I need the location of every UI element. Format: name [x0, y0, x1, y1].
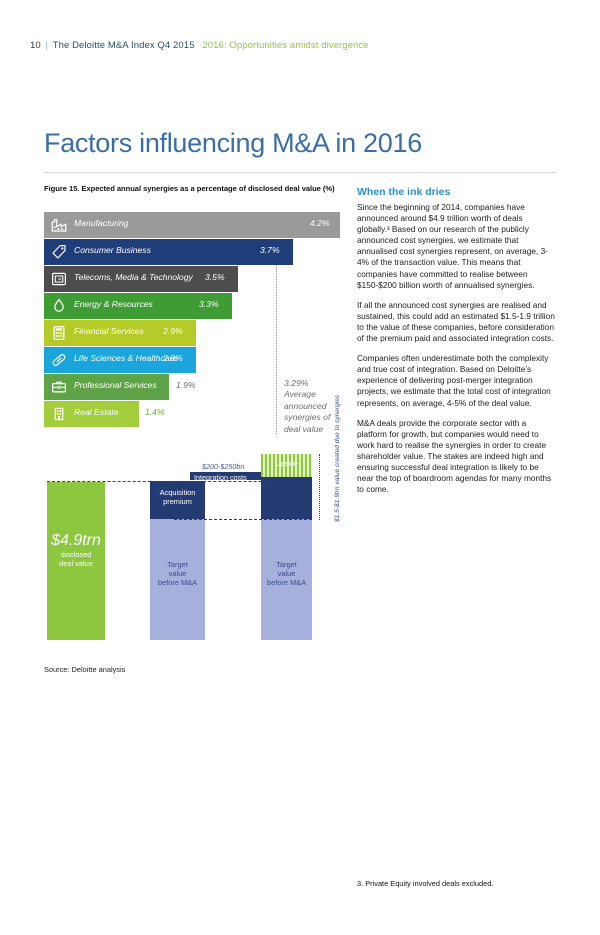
article-body: When the ink dries Since the beginning o… [357, 186, 556, 504]
figure-caption: Figure 15. Expected annual synergies as … [44, 184, 335, 193]
disclosed-deal-value-label: $4.9trn disclosed deal value [47, 532, 105, 568]
bar-label-real-estate: Real Estate [74, 407, 118, 417]
bar-label-financial-services: Financial Services [74, 326, 144, 336]
page-root: 10 | The Deloitte M&A Index Q4 2015 2016… [0, 0, 600, 935]
average-annotation: 3.29% Average announced synergies of dea… [284, 378, 330, 435]
acquisition-premium-line-2: premium [150, 497, 205, 506]
target-value-1-line-3: before M&A [150, 578, 205, 587]
bar-label-manufacturing: Manufacturing [74, 218, 128, 228]
page-number: 10 [30, 40, 41, 51]
body-paragraph-2: If all the announced cost synergies are … [357, 300, 556, 344]
building-icon [50, 405, 68, 423]
bar-value-telecoms-media-technology: 3.5% [205, 272, 225, 282]
synergy-brace-line [319, 454, 320, 520]
bar-value-real-estate: 1.4% [145, 407, 165, 417]
target-value-1-line-1: Target [150, 560, 205, 569]
tag-icon [50, 243, 68, 261]
title-divider [44, 172, 556, 173]
average-annotation-line-5: deal value [284, 424, 330, 435]
bar-row-life-sciences-healthcare: Life Sciences & Healthcare 2.9% [44, 347, 344, 373]
publication-subtitle: 2016: Opportunities amidst divergence [202, 40, 368, 51]
publication-name: The Deloitte M&A Index Q4 2015 [53, 40, 195, 51]
average-annotation-line-4: synergies of [284, 412, 330, 423]
bar-label-professional-services: Professional Services [74, 380, 157, 390]
value-waterfall-diagram: $4.9trn disclosed deal value Acquisition… [44, 450, 374, 650]
bar-row-financial-services: Financial Services 2.9% [44, 320, 344, 346]
body-paragraph-4: M&A deals provide the corporate sector w… [357, 418, 556, 496]
average-annotation-line-3: announced [284, 401, 330, 412]
synergy-created-label: $1.5-$1.9trn value created due to synerg… [334, 395, 341, 522]
running-header: 10 | The Deloitte M&A Index Q4 2015 2016… [30, 40, 369, 51]
disclosed-deal-value-amount: $4.9trn [47, 532, 105, 550]
synergy-created-label-text: $1.5-$1.9trn value created due to synerg… [334, 395, 341, 522]
bar-label-life-sciences-healthcare: Life Sciences & Healthcare [74, 353, 177, 363]
bar-label-energy-resources: Energy & Resources [74, 299, 153, 309]
bar-value-life-sciences-healthcare: 2.9% [163, 353, 183, 363]
bar-value-professional-services: 1.9% [176, 380, 196, 390]
synergies-bar-chart: Manufacturing 4.2% Consumer Business 3.7… [44, 212, 344, 434]
target-value-2-line-3: before M&A [261, 578, 312, 587]
bar-label-telecoms-media-technology: Telecoms, Media & Technology [74, 272, 193, 282]
bar-row-telecoms-media-technology: Telecoms, Media & Technology 3.5% [44, 266, 344, 292]
droplet-icon [50, 297, 68, 315]
header-separator: | [46, 40, 49, 51]
target-value-1-line-2: value [150, 569, 205, 578]
briefcase-icon [50, 378, 68, 396]
upside-label-text: Upside [275, 459, 298, 468]
waterfall-dash-top [47, 481, 312, 482]
monitor-icon [50, 270, 68, 288]
target-value-2-label: Target value before M&A [261, 560, 312, 588]
acquisition-premium-label: Acquisition premium [150, 488, 205, 506]
page-title: Factors influencing M&A in 2016 [44, 128, 422, 159]
average-annotation-line-1: 3.29% [284, 378, 330, 389]
body-paragraph-1: Since the beginning of 2014, companies h… [357, 202, 556, 291]
disclosed-deal-value-line-2: deal value [47, 559, 105, 568]
pill-icon [50, 351, 68, 369]
bar-value-financial-services: 2.9% [163, 326, 183, 336]
average-annotation-line-2: Average [284, 389, 330, 400]
footnote: 3. Private Equity involved deals exclude… [357, 879, 493, 888]
section-heading: When the ink dries [357, 186, 556, 199]
bar-value-manufacturing: 4.2% [310, 218, 330, 228]
bar-value-consumer-business: 3.7% [260, 245, 280, 255]
body-paragraph-3: Companies often underestimate both the c… [357, 353, 556, 408]
target-value-2-line-2: value [261, 569, 312, 578]
upside-label: Upside [261, 459, 312, 468]
waterfall-dash-bottom [174, 519, 312, 520]
target-value-2-line-1: Target [261, 560, 312, 569]
disclosed-deal-value-line-1: disclosed [47, 550, 105, 559]
target-value-1-label: Target value before M&A [150, 560, 205, 588]
bar-row-energy-resources: Energy & Resources 3.3% [44, 293, 344, 319]
acquisition-premium-line-1: Acquisition [150, 488, 205, 497]
factory-icon [50, 216, 68, 234]
waterfall-bar-synergy-navy [261, 476, 312, 519]
bar-value-energy-resources: 3.3% [199, 299, 219, 309]
calculator-icon [50, 324, 68, 342]
bar-row-manufacturing: Manufacturing 4.2% [44, 212, 344, 238]
integration-costs-value-text: $200-$250bn [202, 462, 244, 471]
figure-source: Source: Deloitte analysis [44, 665, 125, 674]
integration-costs-value: $200-$250bn [202, 462, 244, 471]
bar-row-consumer-business: Consumer Business 3.7% [44, 239, 344, 265]
bar-label-consumer-business: Consumer Business [74, 245, 151, 255]
